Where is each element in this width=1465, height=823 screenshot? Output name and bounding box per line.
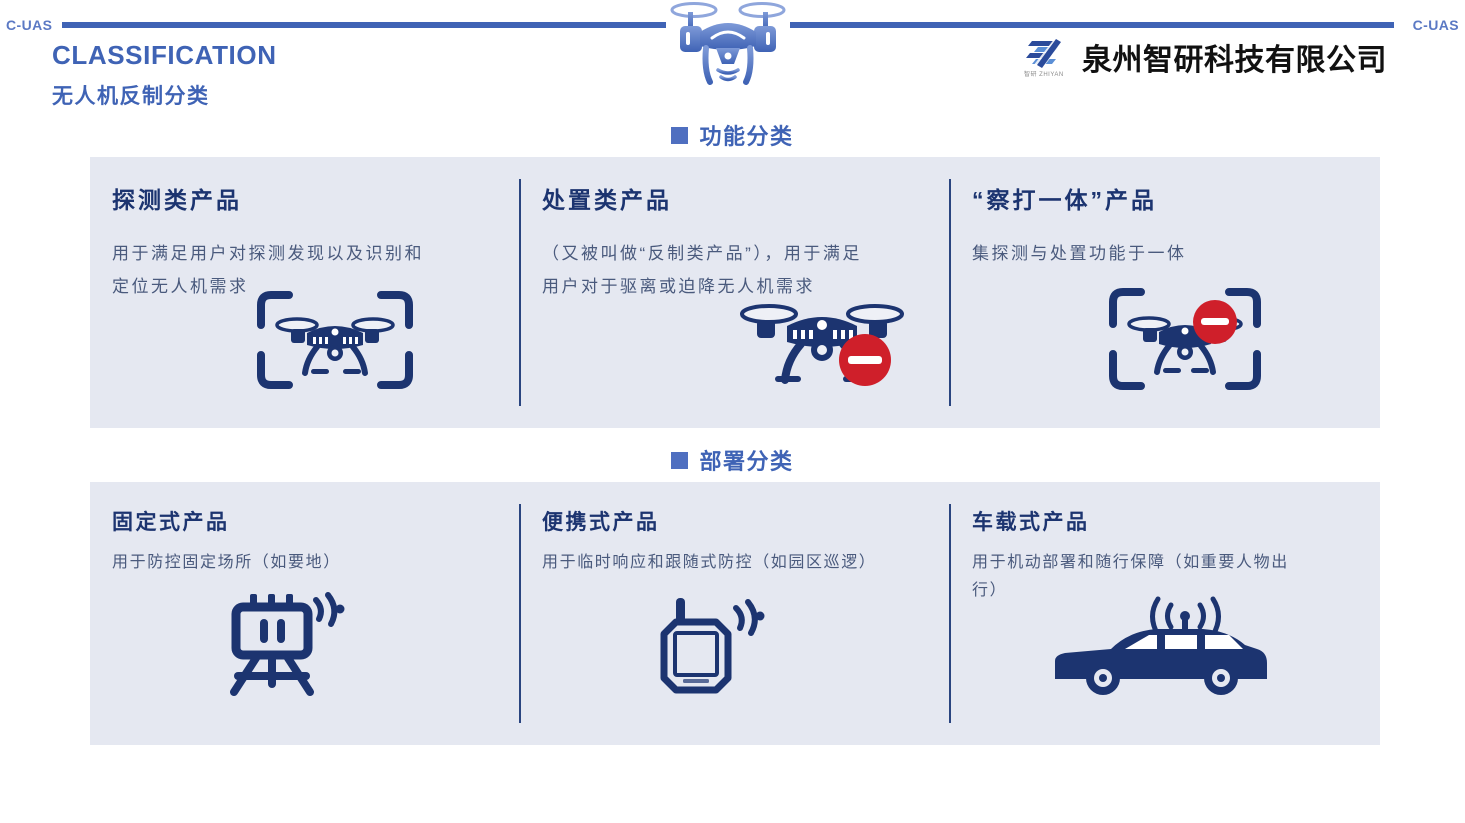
card-body: 集探测与处置功能于一体: [972, 237, 1302, 270]
company-name: 泉州智研科技有限公司: [1082, 35, 1387, 79]
section-heading-deployment: 部署分类: [0, 444, 1465, 476]
drone-brackets-with-prohibition-badge-icon: [1105, 282, 1265, 397]
drone-icon: [666, 0, 790, 90]
function-classification-panel: 探测类产品 用于满足用户对探测发现以及识别和定位无人机需求: [90, 157, 1380, 428]
page-title-cn: 无人机反制分类: [52, 80, 210, 110]
vehicle-mounted-antenna-icon: [1045, 597, 1275, 697]
card-title: 探测类产品: [112, 181, 520, 215]
page-title-en: CLASSIFICATION: [52, 40, 277, 71]
card-title: 处置类产品: [542, 181, 950, 215]
header-rule-left: [62, 22, 666, 28]
portable-handheld-device-icon: [650, 592, 770, 697]
zhiyan-logo-icon: 智研 ZHIYAN: [1024, 37, 1070, 77]
company-brand: 智研 ZHIYAN 泉州智研科技有限公司: [1024, 35, 1387, 79]
card-portable-products[interactable]: 便携式产品 用于临时响应和跟随式防控（如园区巡逻）: [520, 482, 950, 745]
square-bullet-icon: [671, 127, 688, 144]
card-countermeasure-products[interactable]: 处置类产品 （又被叫做“反制类产品”），用于满足用户对于驱离或迫降无人机需求: [520, 157, 950, 428]
card-vehicle-products[interactable]: 车载式产品 用于机动部署和随行保障（如重要人物出行）: [950, 482, 1380, 745]
card-body: 用于临时响应和跟随式防控（如园区巡逻）: [542, 549, 882, 577]
header-rule-right: [790, 22, 1394, 28]
cuas-tag-left: C-UAS: [6, 17, 52, 33]
section-heading-function: 功能分类: [0, 119, 1465, 151]
card-title: “察打一体”产品: [972, 181, 1380, 215]
cuas-tag-right: C-UAS: [1413, 17, 1459, 33]
square-bullet-icon: [671, 452, 688, 469]
card-fixed-products[interactable]: 固定式产品 用于防控固定场所（如要地）: [90, 482, 520, 745]
section-title-function: 功能分类: [699, 119, 793, 151]
drone-with-prohibition-badge-icon: [735, 292, 915, 392]
card-body: 用于防控固定场所（如要地）: [112, 549, 452, 577]
card-title: 便携式产品: [542, 506, 950, 536]
drone-in-detection-brackets-icon: [255, 285, 415, 395]
deployment-classification-panel: 固定式产品 用于防控固定场所（如要地）: [90, 482, 1380, 745]
card-title: 固定式产品: [112, 506, 520, 536]
section-title-deployment: 部署分类: [699, 444, 793, 476]
card-integrated-products[interactable]: “察打一体”产品 集探测与处置功能于一体: [950, 157, 1380, 428]
card-title: 车载式产品: [972, 506, 1380, 536]
fixed-station-tripod-icon: [220, 592, 350, 697]
brand-sub-label: 智研 ZHIYAN: [1024, 69, 1064, 78]
slide-header: C-UAS C-: [0, 0, 1465, 110]
card-detection-products[interactable]: 探测类产品 用于满足用户对探测发现以及识别和定位无人机需求: [90, 157, 520, 428]
